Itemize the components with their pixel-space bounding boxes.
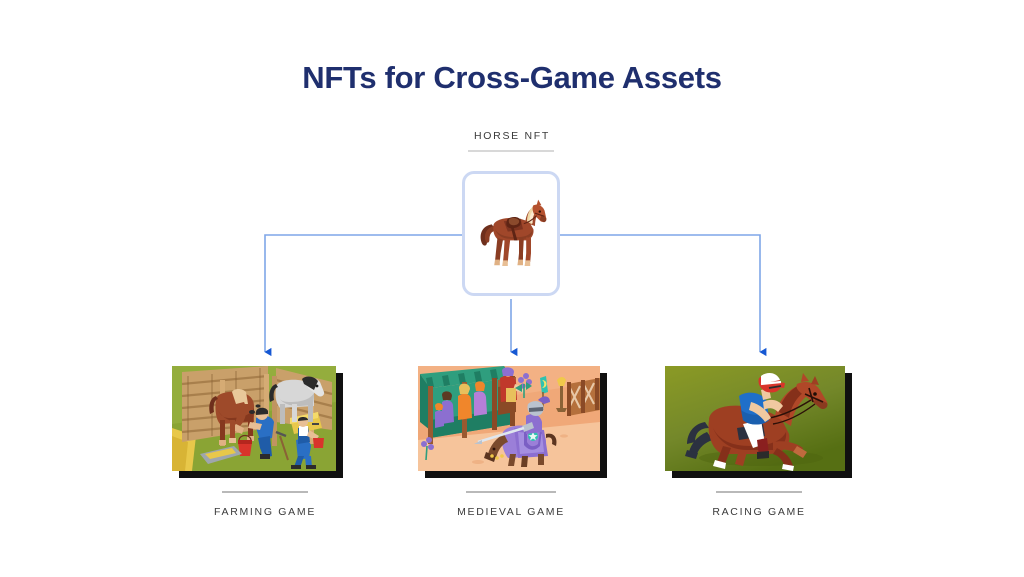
racing-game-thumbnail[interactable] bbox=[665, 366, 845, 471]
farming-game-image bbox=[172, 366, 336, 471]
horse-icon bbox=[471, 194, 551, 274]
medieval-game-caption: MEDIEVAL GAME bbox=[436, 506, 586, 518]
slide-canvas: NFTs for Cross-Game Assets HORSE NFT bbox=[0, 0, 1024, 577]
farming-stable-scene-icon bbox=[172, 366, 336, 471]
medieval-game-caption-rule bbox=[466, 491, 556, 493]
farming-game-thumbnail[interactable] bbox=[172, 366, 336, 471]
connector-to-racing bbox=[560, 235, 760, 352]
racing-game-caption: RACING GAME bbox=[684, 506, 834, 518]
racing-game-image bbox=[665, 366, 845, 471]
page-title: NFTs for Cross-Game Assets bbox=[0, 60, 1024, 96]
horse-nft-label-rule bbox=[468, 150, 554, 152]
medieval-joust-scene-icon bbox=[418, 366, 600, 471]
horse-racing-scene-icon bbox=[665, 366, 845, 471]
medieval-game-thumbnail[interactable] bbox=[418, 366, 600, 471]
horse-nft-card[interactable] bbox=[462, 171, 560, 296]
medieval-game-image bbox=[418, 366, 600, 471]
connector-to-farming bbox=[265, 235, 462, 352]
horse-nft-label: HORSE NFT bbox=[437, 130, 587, 142]
farming-game-caption: FARMING GAME bbox=[190, 506, 340, 518]
horse-nft-artwork bbox=[468, 178, 554, 290]
racing-game-caption-rule bbox=[716, 491, 802, 493]
farming-game-caption-rule bbox=[222, 491, 308, 493]
